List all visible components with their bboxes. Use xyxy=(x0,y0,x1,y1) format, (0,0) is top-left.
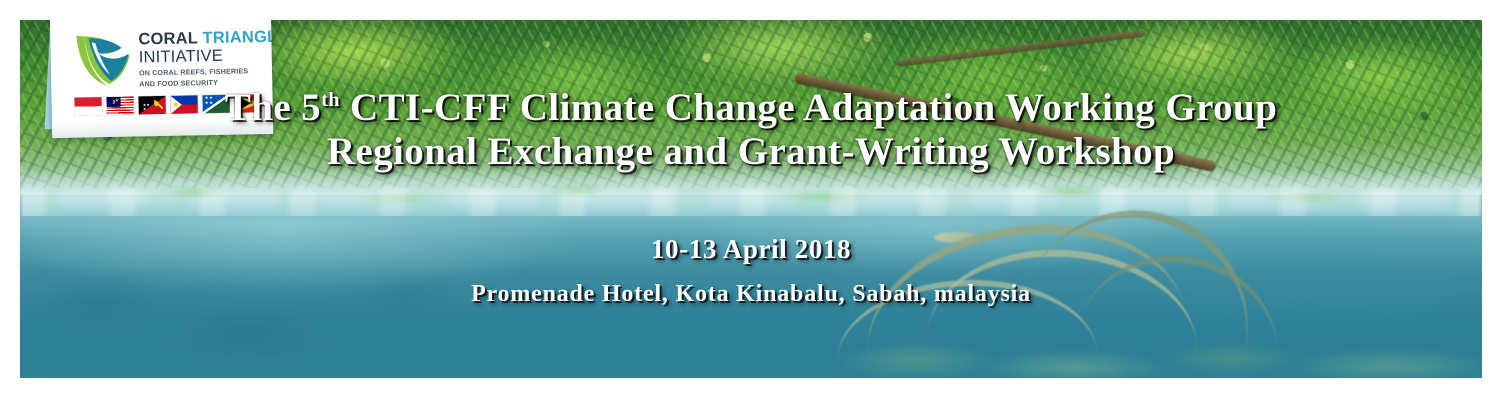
mangrove-branch-secondary-icon xyxy=(897,30,1146,67)
title-line-1-rest: CTI-CFF Climate Change Adaptation Workin… xyxy=(340,86,1277,129)
banner-details: 10-13 April 2018 Promenade Hotel, Kota K… xyxy=(20,232,1482,310)
banner-title: The 5th CTI-CFF Climate Change Adaptatio… xyxy=(20,86,1482,174)
logo-word-coral: CORAL xyxy=(138,29,198,48)
title-line-1: The 5th CTI-CFF Climate Change Adaptatio… xyxy=(20,86,1482,130)
seabed-vegetation xyxy=(824,320,1482,378)
title-line-1-prefix: The 5 xyxy=(225,86,321,129)
coral-triangle-swoosh-icon xyxy=(72,31,135,90)
logo-wordmark: CORAL TRIANGLE INITIATIVE ON CORAL REEFS… xyxy=(138,29,269,90)
banner-photo-plate: CORAL TRIANGLE INITIATIVE ON CORAL REEFS… xyxy=(20,20,1482,378)
title-line-2: Regional Exchange and Grant-Writing Work… xyxy=(20,130,1482,174)
logo-word-triangle: TRIANGLE xyxy=(202,28,273,48)
logo-word-initiative: INITIATIVE xyxy=(139,45,269,66)
event-date: 10-13 April 2018 xyxy=(20,232,1482,266)
title-ordinal-suffix: th xyxy=(321,89,340,111)
event-banner: CORAL TRIANGLE INITIATIVE ON CORAL REEFS… xyxy=(0,0,1500,400)
event-venue: Promenade Hotel, Kota Kinabalu, Sabah, m… xyxy=(20,278,1482,310)
